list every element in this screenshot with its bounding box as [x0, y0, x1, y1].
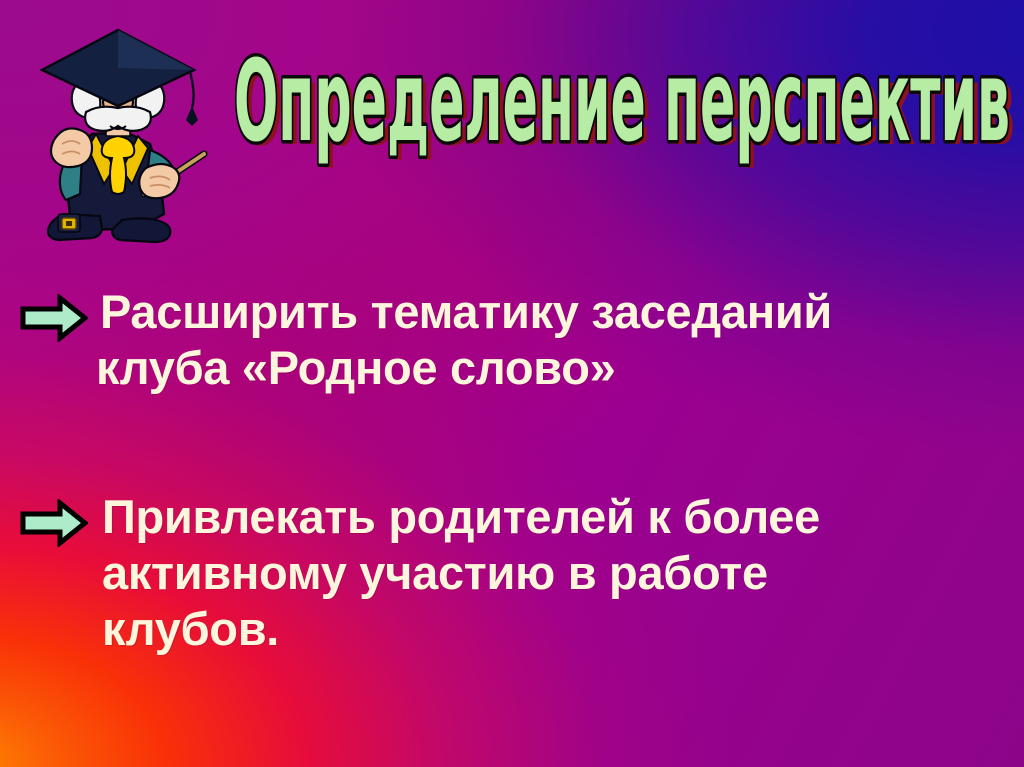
professor-illustration — [42, 30, 204, 242]
page-title: Определение перспектив Определение персп… — [232, 52, 1012, 160]
right-arrow-bullet-icon — [20, 499, 88, 547]
bullet-text: Привлекать родителей к более активному у… — [102, 489, 1010, 657]
page-title-text: Определение перспектив — [234, 37, 1010, 167]
bullet-item: Расширить тематику заседаний клуба «Родн… — [20, 284, 1010, 396]
bullet-item: Привлекать родителей к более активному у… — [20, 489, 1010, 657]
presentation-slide: Определение перспектив Определение персп… — [0, 0, 1024, 767]
right-arrow-bullet-icon — [20, 294, 88, 342]
professor-clipart — [18, 28, 218, 250]
bullet-text: Расширить тематику заседаний клуба «Родн… — [96, 284, 1010, 396]
